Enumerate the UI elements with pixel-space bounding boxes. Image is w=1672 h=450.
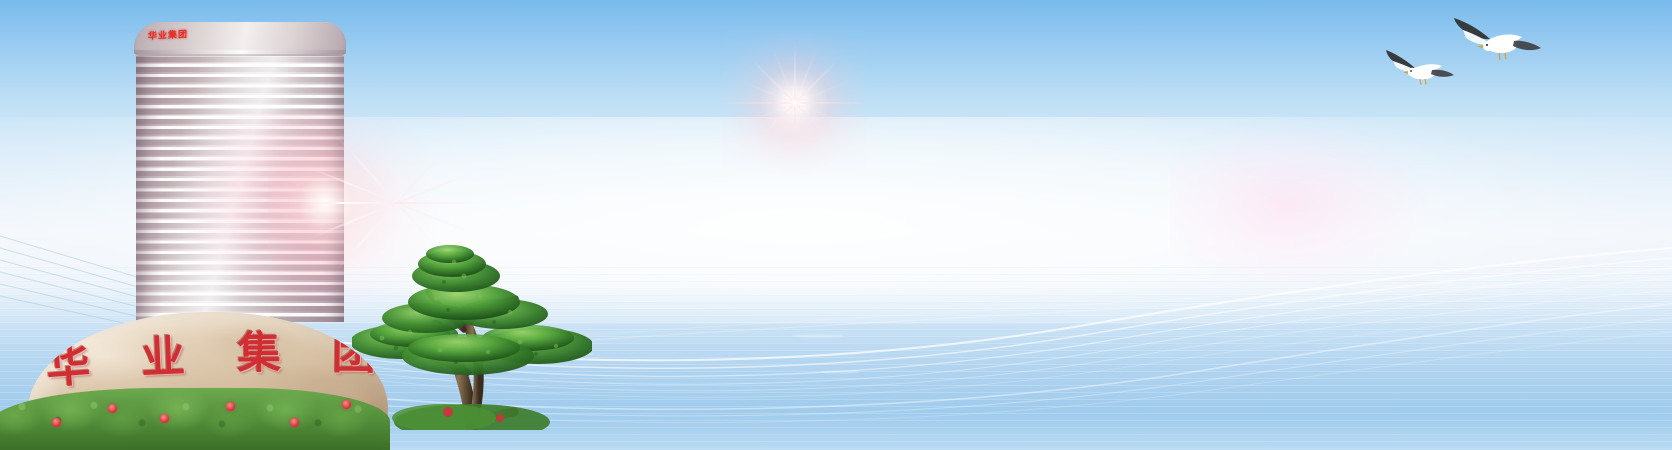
headline-slogan: 创一流品牌成百年华业 bbox=[596, 134, 1330, 200]
hedge-flower bbox=[52, 418, 61, 427]
hedge-flower bbox=[342, 400, 351, 409]
headline-part-1: 创一流品牌 bbox=[596, 128, 946, 205]
sculpted-pine-bonsai bbox=[352, 222, 592, 430]
monument-char: 华 bbox=[45, 344, 92, 391]
hedge-flower bbox=[108, 404, 117, 413]
tower-rooftop-sign: 华业集团 bbox=[148, 28, 188, 42]
hero-banner: 华业集团 华 业 集 团 bbox=[0, 0, 1672, 450]
headline-part-2: 成百年华业 bbox=[980, 128, 1330, 205]
seagull-right bbox=[1452, 12, 1544, 74]
hedge-flower bbox=[160, 414, 169, 423]
monument-inscription: 华 业 集 团 bbox=[46, 332, 377, 384]
monument-char: 业 bbox=[140, 335, 186, 381]
monument-char: 集 bbox=[236, 332, 280, 376]
tower-crown-trim bbox=[134, 50, 346, 54]
green-hedge bbox=[0, 388, 390, 450]
tower-left-edge bbox=[136, 22, 162, 322]
hedge-flower bbox=[226, 402, 235, 411]
seagull-left bbox=[1382, 42, 1456, 94]
hedge-flower bbox=[290, 418, 299, 427]
